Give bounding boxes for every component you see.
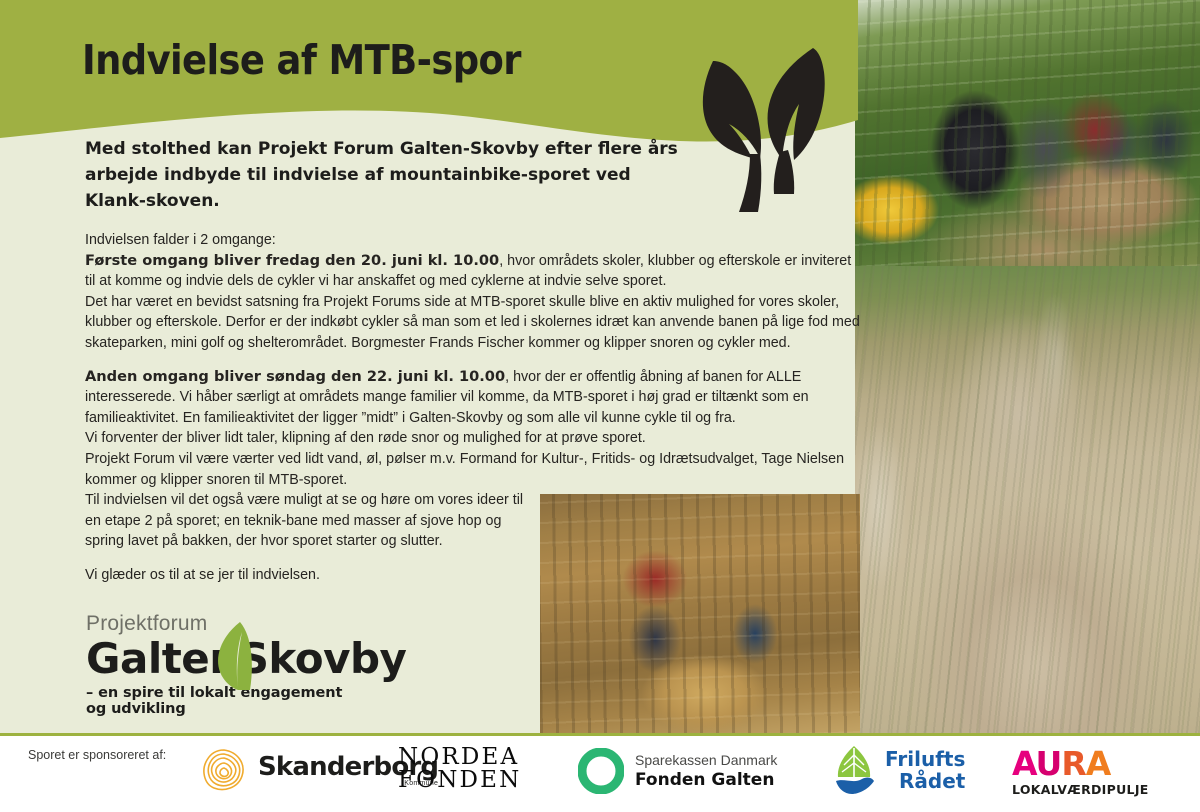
block1-paragraph1: Første omgang bliver fredag den 20. juni… [85,251,860,292]
aura-wordmark: AURA [1012,747,1149,780]
friluftsraadet-leaf-wave-icon [832,745,876,795]
sponsor-aura-lokalvaerdipulje[interactable]: AURA LOKALVÆRDIPULJE [1012,747,1149,797]
projektforum-logo: Projektforum Galten Skovby – en spire ti… [86,612,366,712]
block2-date-bold: Anden omgang bliver søndag den 22. juni … [85,368,505,385]
intro-line: Indvielsen falder i 2 omgange: [85,230,860,251]
nordea-line2: FONDEN [398,769,522,792]
friluftsraadet-line2: Rådet [885,770,965,792]
logo-skovby: Skovby [239,636,407,682]
body-copy: Indvielsen falder i 2 omgange: Første om… [85,230,860,586]
aura-letter-u: U [1036,744,1062,783]
page-title: Indvielse af MTB-spor [82,36,521,84]
block1-paragraph2: Det har været en bevidst satsning fra Pr… [85,292,860,354]
skanderborg-rings-icon [200,748,248,792]
paragraph-gap [85,354,860,367]
sponsor-sparekassen-danmark[interactable]: Sparekassen Danmark Fonden Galten [578,748,777,794]
aura-letter-r: R [1061,744,1085,783]
logo-leaf-icon [208,620,254,697]
poster-canvas: Indvielse af MTB-spor Med stolthed kan P… [0,0,1200,812]
aura-subline: LOKALVÆRDIPULJE [1012,782,1149,797]
aura-letter-a1: A [1012,744,1036,783]
friluftsraadet-line1: Frilufts [885,748,965,770]
block2-paragraph4: Til indvielsen vil det også være muligt … [85,490,530,552]
photo-volunteers-building-trail [855,0,1200,266]
sparekassen-ring-icon [578,748,624,794]
block2-paragraph2: Vi forventer der bliver lidt taler, klip… [85,428,860,449]
nordea-line1: NORDEA [398,746,522,769]
block2-paragraph3: Projekt Forum vil være værter ved lidt v… [85,449,860,490]
block1-date-bold: Første omgang bliver fredag den 20. juni… [85,252,499,269]
closing-line: Vi glæder os til at se jer til indvielse… [85,565,860,586]
aura-letter-a2: A [1086,744,1111,783]
lead-paragraph: Med stolthed kan Projekt Forum Galten-Sk… [85,136,685,214]
sponsor-label: Sporet er sponsoreret af: [28,748,166,762]
sparekassen-line2: Fonden Galten [635,770,777,791]
sprout-plant-icon [682,42,842,219]
sponsor-friluftsraadet[interactable]: Frilufts Rådet [832,745,965,795]
sparekassen-line1: Sparekassen Danmark [635,751,777,770]
photo-finished-sandy-trail [855,266,1200,733]
block2-paragraph1: Anden omgang bliver søndag den 22. juni … [85,367,860,429]
sponsor-nordeafonden[interactable]: NORDEA FONDEN [398,746,522,792]
paragraph-gap-2 [85,552,860,565]
